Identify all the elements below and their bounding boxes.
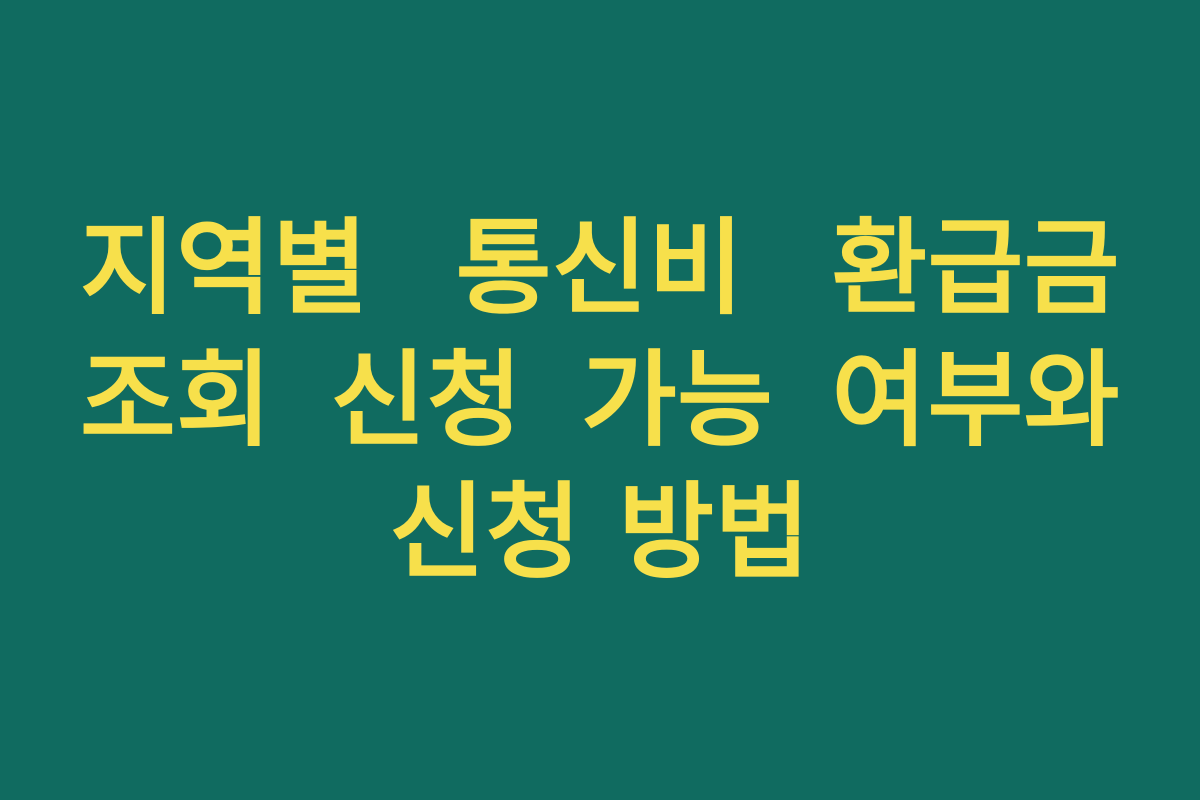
page-title: 지역별 통신비 환급금 조회 신청 가능 여부와 신청 방법 <box>80 202 1120 598</box>
title-card-canvas: 지역별 통신비 환급금 조회 신청 가능 여부와 신청 방법 <box>0 0 1200 800</box>
title-block: 지역별 통신비 환급금 조회 신청 가능 여부와 신청 방법 <box>70 202 1130 598</box>
